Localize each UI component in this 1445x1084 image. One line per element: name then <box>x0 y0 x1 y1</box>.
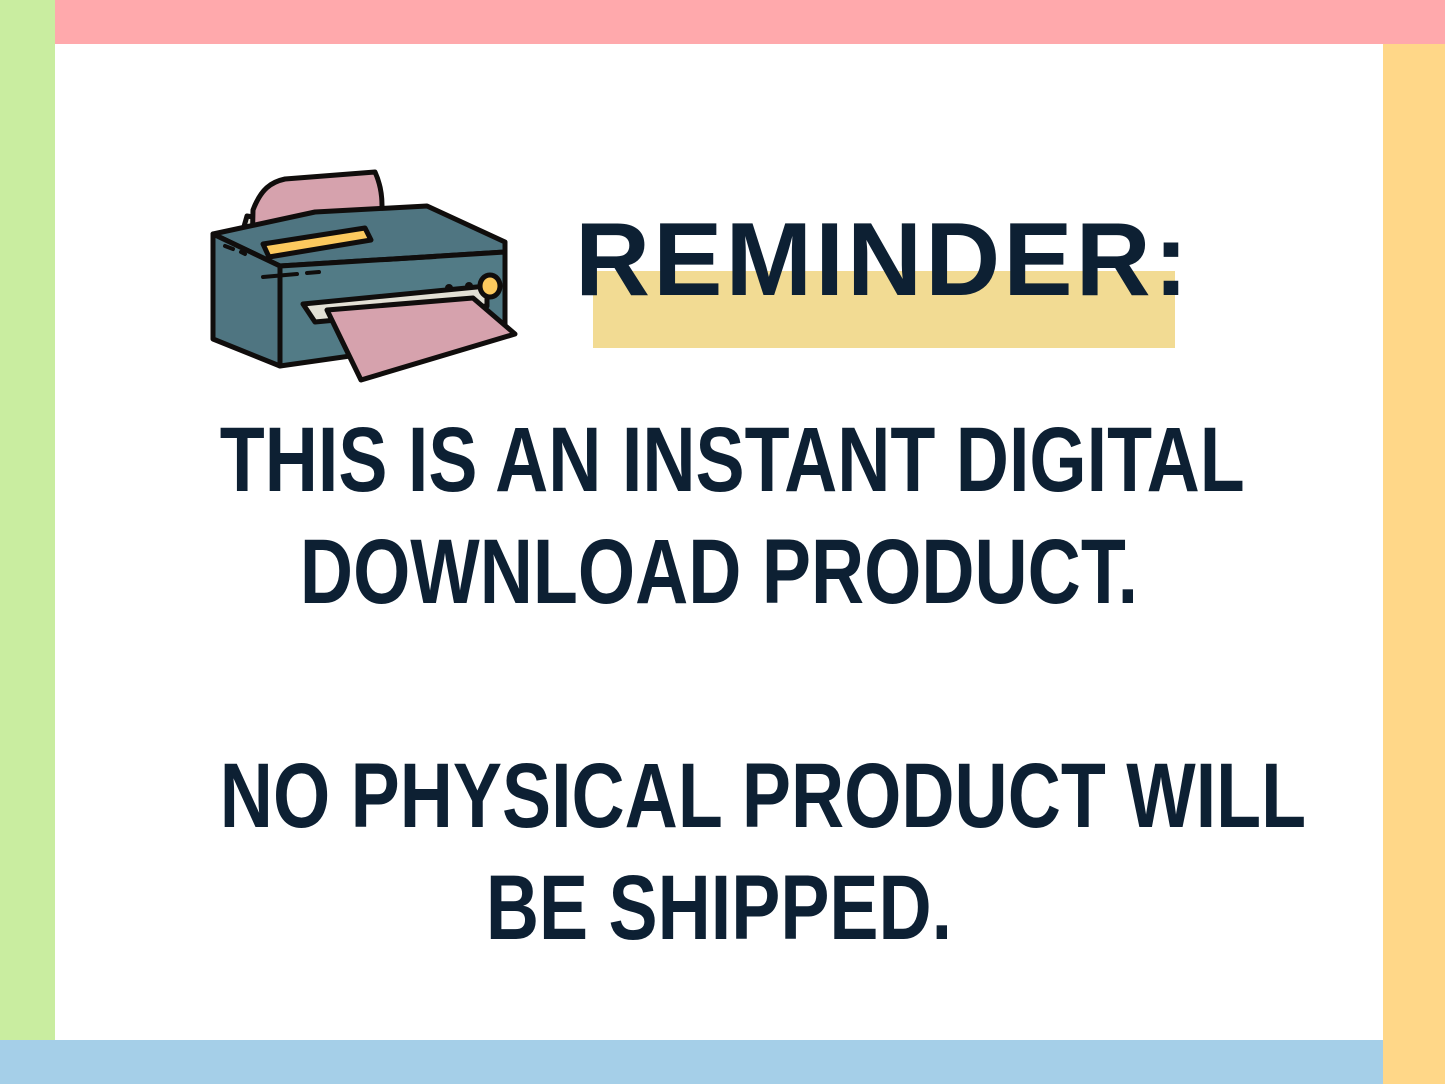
headline-block: REMINDER: <box>575 194 1185 354</box>
decorative-bar-bottom <box>0 1040 1383 1084</box>
page-title: REMINDER: <box>575 194 1185 326</box>
body-copy-block: THIS IS AN INSTANT DIGITAL DOWNLOAD PROD… <box>95 404 1343 964</box>
body-copy-line-4: BE SHIPPED. <box>220 852 1218 964</box>
decorative-bar-right <box>1383 44 1445 1084</box>
body-copy-spacer <box>95 628 1343 740</box>
printer-indicator-light <box>480 275 500 297</box>
printer-output-page <box>327 298 515 380</box>
body-copy-line-3: NO PHYSICAL PRODUCT WILL <box>220 740 1218 852</box>
body-copy-line-1: THIS IS AN INSTANT DIGITAL <box>220 404 1218 516</box>
poster-canvas: REMINDER: THIS IS AN INSTANT DIGITAL DOW… <box>55 44 1383 1040</box>
body-copy-line-2: DOWNLOAD PRODUCT. <box>220 516 1218 628</box>
decorative-bar-top <box>55 0 1445 44</box>
reminder-poster: REMINDER: THIS IS AN INSTANT DIGITAL DOW… <box>0 0 1445 1084</box>
decorative-bar-left <box>0 0 55 1040</box>
printer-icon <box>185 94 545 394</box>
